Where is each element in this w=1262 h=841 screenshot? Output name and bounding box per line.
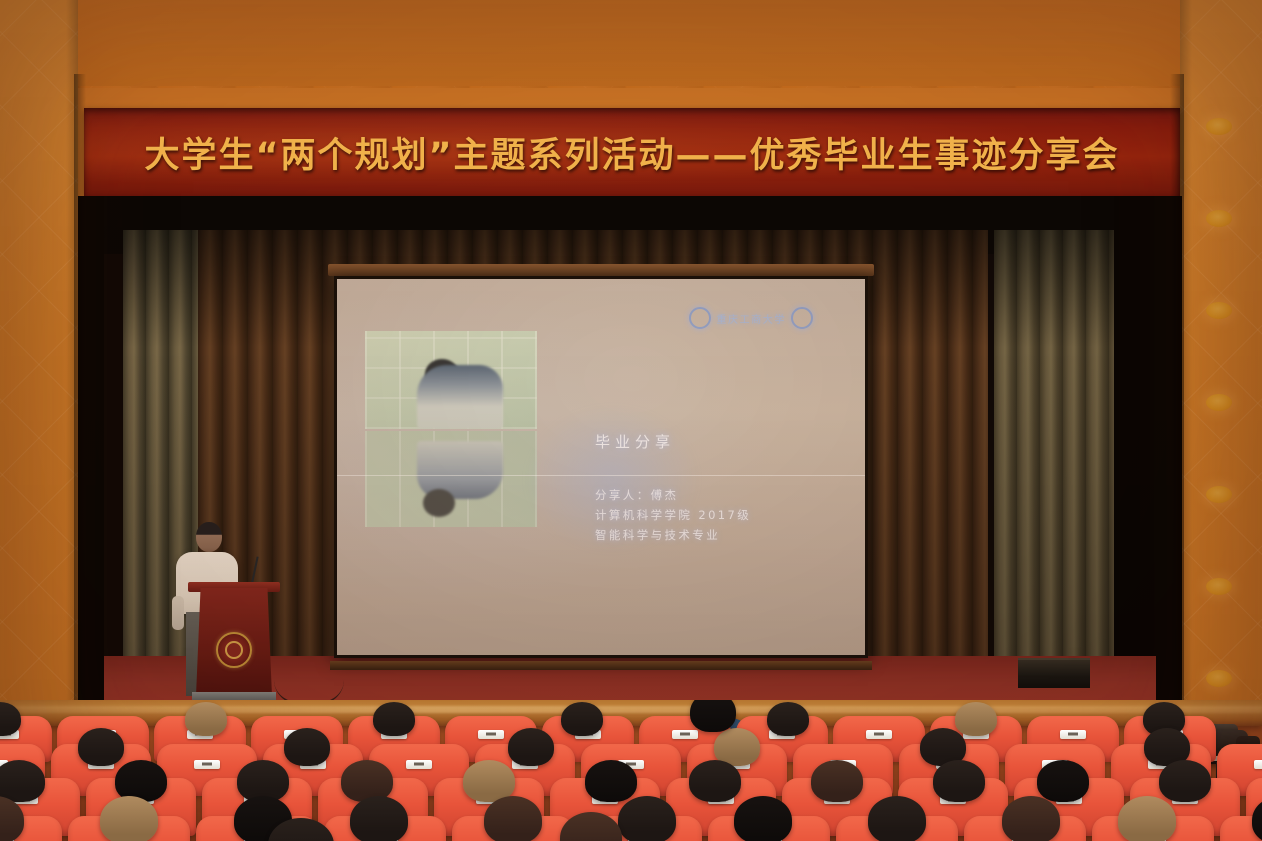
logo-ring-icon [689, 307, 711, 329]
seat-number-plate [478, 730, 504, 739]
audience-member [284, 728, 330, 766]
slide-line-presenter: 分享人：傅杰 [595, 485, 751, 505]
audience-member [185, 702, 227, 736]
screen-seam [337, 475, 865, 476]
audience-member [484, 796, 542, 841]
audience-member [868, 796, 926, 841]
audience-member [373, 702, 415, 736]
audience-member [1002, 796, 1060, 841]
logo-seal-icon [791, 307, 813, 329]
banner-text: 大学生“两个规划”主题系列活动——优秀毕业生事迹分享会 [144, 127, 1119, 178]
seat-number-plate [1254, 760, 1262, 769]
projection-screen-assembly: 重庆工商大学 毕业分享 分享人：傅杰 计算机科学学院 2017级 智能科学与技术… [334, 264, 868, 674]
audience-member [585, 760, 637, 802]
audience-member [811, 760, 863, 802]
screen-bottom-bar [330, 661, 872, 670]
seat-number-plate [406, 760, 432, 769]
screen-roller [328, 264, 874, 276]
auditorium-photo: 大学生“两个规划”主题系列活动——优秀毕业生事迹分享会 [0, 0, 1262, 841]
audience-member [933, 760, 985, 802]
curtain-shading [994, 230, 1114, 700]
podium [196, 588, 272, 696]
wall-light [1206, 394, 1232, 411]
audience-member [618, 796, 676, 841]
seat-number-plate [672, 730, 698, 739]
stage-riser-box [1018, 658, 1090, 688]
wall-light [1206, 670, 1232, 687]
audience-member [955, 702, 997, 736]
right-side-curtain [994, 230, 1114, 700]
seat-number-plate [1060, 730, 1086, 739]
wall-light [1206, 578, 1232, 595]
proscenium-shadow-right [1170, 74, 1184, 714]
audience-member [508, 728, 554, 766]
audience-member [689, 760, 741, 802]
photo-person-body [417, 365, 503, 429]
audience-member [0, 760, 45, 802]
audience-member [734, 796, 792, 841]
speaker-head [196, 522, 222, 552]
audience-member [767, 702, 809, 736]
slide-photo [365, 331, 537, 429]
audience-member [350, 796, 408, 841]
slide-subtext: 分享人：傅杰 计算机科学学院 2017级 智能科学与技术专业 [595, 485, 751, 545]
seat-number-plate [866, 730, 892, 739]
audience-member [78, 728, 124, 766]
wall-light [1206, 210, 1232, 227]
slide-line-major: 智能科学与技术专业 [595, 525, 751, 545]
wall-light [1206, 486, 1232, 503]
audience-member [1037, 760, 1089, 802]
wall-light [1206, 118, 1232, 135]
audience-member [561, 702, 603, 736]
podium-emblem-icon [216, 632, 252, 668]
projection-screen: 重庆工商大学 毕业分享 分享人：傅杰 计算机科学学院 2017级 智能科学与技术… [334, 276, 868, 658]
seat-number-plate [194, 760, 220, 769]
university-name: 重庆工商大学 [716, 311, 786, 326]
wall-light [1206, 302, 1232, 319]
slide-title: 毕业分享 [595, 431, 675, 452]
slide-photo-reflection [365, 431, 537, 527]
audience-member [100, 796, 158, 841]
slide-line-college: 计算机科学学院 2017级 [595, 505, 751, 525]
audience-member [1118, 796, 1176, 841]
proscenium-header [78, 0, 1180, 86]
event-banner: 大学生“两个规划”主题系列活动——优秀毕业生事迹分享会 [84, 108, 1180, 196]
photo-reflection-head [423, 489, 455, 517]
university-logo: 重庆工商大学 [689, 307, 813, 329]
proscenium-shadow-left [74, 74, 86, 714]
audience-seating-area [0, 700, 1262, 841]
speaker-arm [172, 596, 184, 630]
audience-member [1159, 760, 1211, 802]
audience-member [690, 700, 736, 732]
